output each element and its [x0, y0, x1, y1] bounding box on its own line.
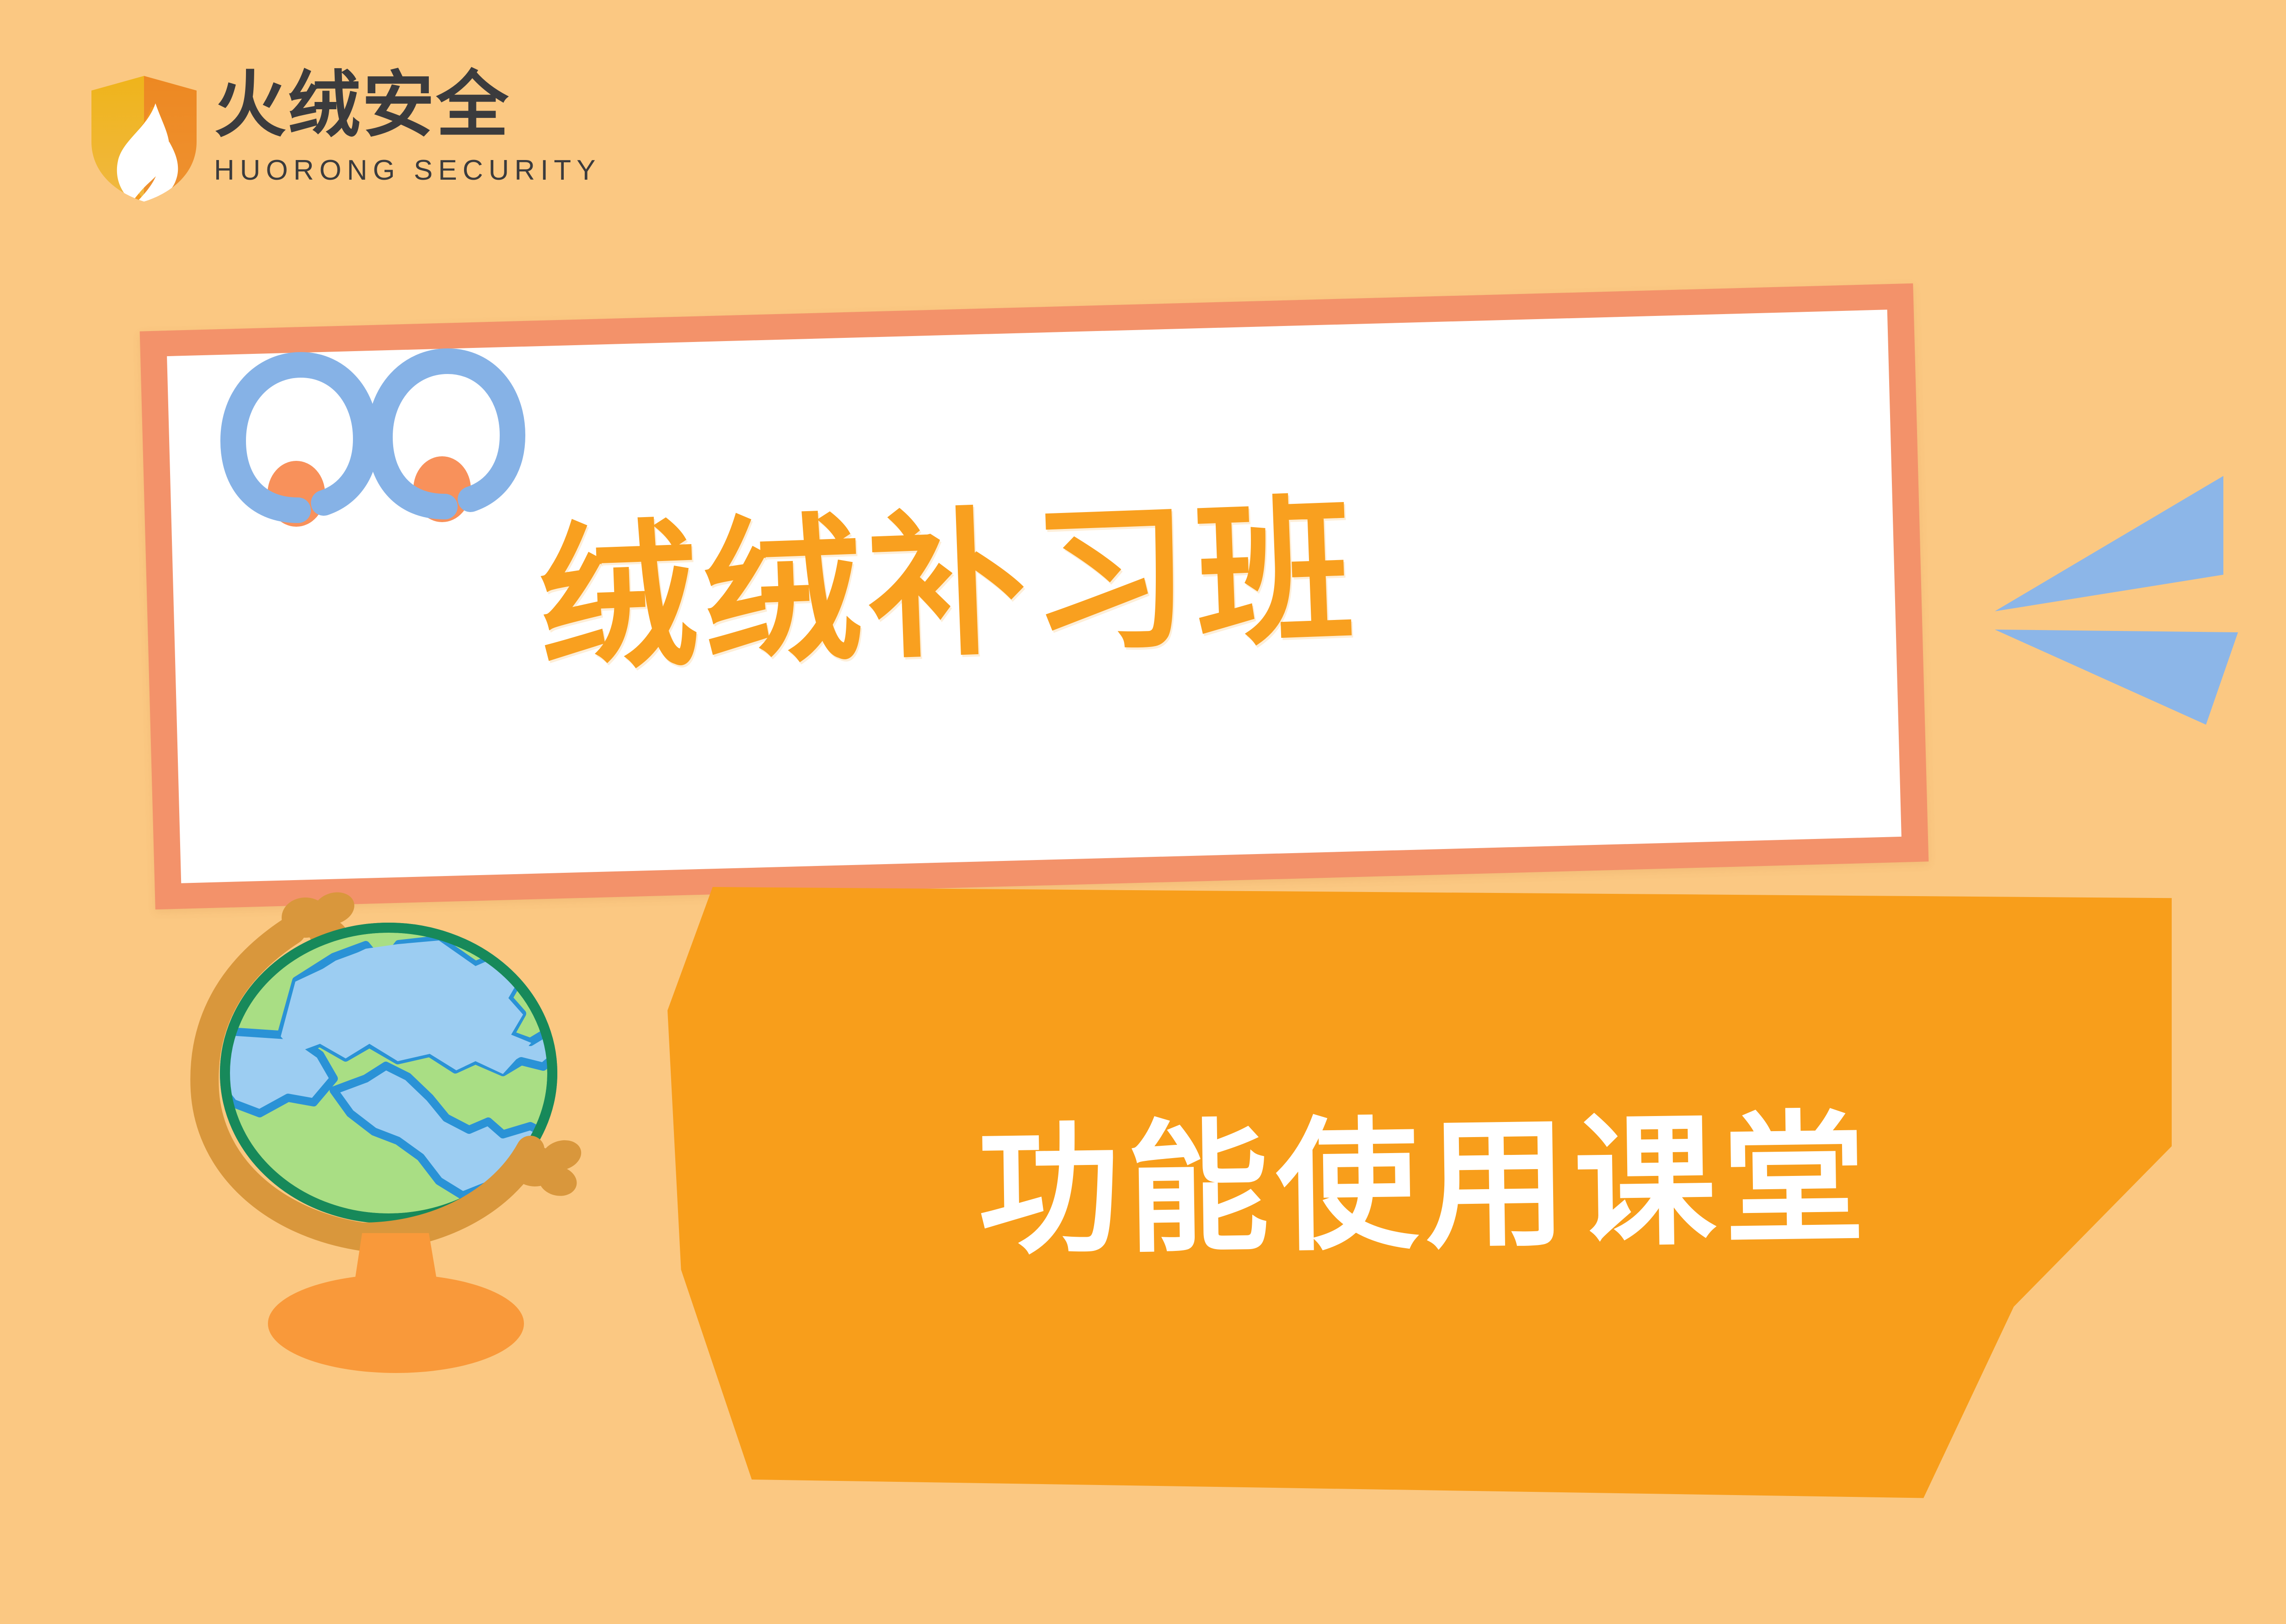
- chevron-lower-blade: [1995, 630, 2238, 725]
- globe-base: [268, 1274, 524, 1373]
- subtitle-banner: 功能使用课堂: [668, 887, 2172, 1504]
- brand-name-cn: 火绒安全: [214, 69, 561, 142]
- brand-logo: 火绒安全 HUORONG SECURITY: [87, 69, 567, 206]
- chevron-upper-blade: [1995, 476, 2223, 611]
- poster-canvas: 火绒安全 HUORONG SECURITY 绒绒补习班 功能使用课堂: [0, 0, 2286, 1624]
- brand-text: 火绒安全 HUORONG SECURITY: [214, 69, 561, 187]
- globe-icon: [183, 876, 585, 1470]
- brand-name-en: HUORONG SECURITY: [214, 154, 561, 187]
- subtitle-banner-text: 功能使用课堂: [977, 1108, 1873, 1262]
- page-title: 绒绒补习班: [535, 451, 1649, 710]
- shield-flame-icon: [87, 73, 201, 203]
- page-title-text: 绒绒补习班: [537, 492, 1362, 680]
- left-chevron-arrow-icon: [1991, 450, 2261, 725]
- spiral-binder-rings: [178, 288, 562, 544]
